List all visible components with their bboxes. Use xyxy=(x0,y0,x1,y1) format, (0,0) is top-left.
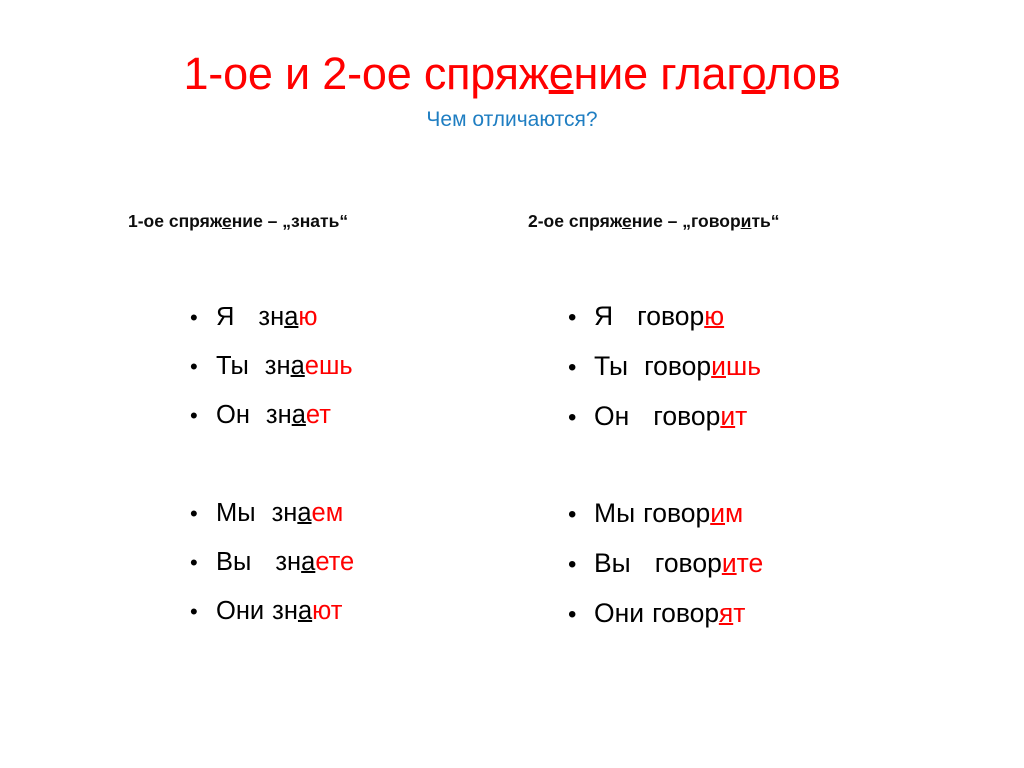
verb-stem: говор xyxy=(644,351,711,381)
list-item: •Онзнает xyxy=(190,401,354,450)
pronoun: Я xyxy=(594,301,613,332)
verb-ending: ем xyxy=(312,499,344,527)
verb-ending: ю xyxy=(298,303,317,331)
verb-form: говорит xyxy=(653,401,747,432)
pronoun: Мы xyxy=(216,499,256,528)
verb-stem: зн xyxy=(266,401,292,429)
list-spacer xyxy=(190,450,354,499)
pronoun: Ты xyxy=(216,352,249,381)
verb-form: говорим xyxy=(643,498,743,529)
page-subtitle: Чем отличаются? xyxy=(0,107,1024,133)
pronoun: Они xyxy=(594,598,644,629)
pronoun: Вы xyxy=(216,548,251,577)
bullet-icon: • xyxy=(190,601,216,623)
header-col2-text-0: 2-ое спряж xyxy=(528,211,622,231)
verb-ending: те xyxy=(737,548,764,578)
verb-stem: говор xyxy=(637,301,704,331)
list-item: •Тызнаешь xyxy=(190,352,354,401)
conjugation-line: Тыговоришь xyxy=(594,351,761,382)
marked-vowel: а xyxy=(292,401,306,429)
list-item: •Язнаю xyxy=(190,303,354,352)
verb-stem: говор xyxy=(652,598,719,628)
header-col1-text-2: ние – „знать“ xyxy=(232,211,348,231)
bullet-icon: • xyxy=(190,552,216,574)
bullet-icon: • xyxy=(190,356,216,378)
bullet-icon: • xyxy=(568,306,594,330)
verb-stem: зн xyxy=(272,499,298,527)
conjugation-line: Онговорит xyxy=(594,401,747,432)
column-header-first-conjugation: 1-ое спряжение – „знать“ xyxy=(128,210,348,232)
bullet-icon: • xyxy=(568,603,594,627)
verb-form: знают xyxy=(272,597,342,626)
conjugation-list-first: •Язнаю•Тызнаешь•Онзнает•Мызнаем•Вызнаете… xyxy=(190,303,354,646)
header-col2-stressed-letter: е xyxy=(622,211,632,231)
verb-form: знаю xyxy=(258,303,317,332)
title-text-2: ние глаг xyxy=(574,48,742,99)
verb-ending: ет xyxy=(306,401,331,429)
pronoun: Мы xyxy=(594,498,635,529)
verb-form: знаешь xyxy=(265,352,353,381)
pronoun: Он xyxy=(216,401,250,430)
conjugation-line: Тызнаешь xyxy=(216,352,353,381)
conjugation-line: Выговорите xyxy=(594,548,763,579)
title-text-4: лов xyxy=(765,48,840,99)
title-text-0: 1-ое и 2-ое спряж xyxy=(183,48,548,99)
list-item: •Тыговоришь xyxy=(568,351,763,401)
bullet-icon: • xyxy=(190,405,216,427)
list-item: •Вызнаете xyxy=(190,548,354,597)
marked-vowel: а xyxy=(291,352,305,380)
conjugation-line: Онзнает xyxy=(216,401,331,430)
verb-stem: зн xyxy=(275,548,301,576)
verb-ending: т xyxy=(735,401,747,431)
verb-ending: м xyxy=(725,498,743,528)
conjugation-line: Мыговорим xyxy=(594,498,743,529)
pronoun: Ты xyxy=(594,351,628,382)
bullet-icon: • xyxy=(568,553,594,577)
page-title: 1-ое и 2-ое спряжение глаголов xyxy=(0,48,1024,100)
verb-ending: ете xyxy=(315,548,354,576)
marked-vowel: а xyxy=(297,499,311,527)
conjugation-line: Мызнаем xyxy=(216,499,343,528)
verb-stem: зн xyxy=(258,303,284,331)
verb-stem: говор xyxy=(643,498,710,528)
verb-ending: ют xyxy=(312,597,342,625)
pronoun: Они xyxy=(216,597,264,626)
marked-vowel: и xyxy=(722,548,737,578)
list-item: •Выговорите xyxy=(568,548,763,598)
title-stressed-letter: е xyxy=(549,48,574,99)
conjugation-line: Онизнают xyxy=(216,597,342,626)
header-col2-text-4: ть“ xyxy=(751,211,779,231)
pronoun: Я xyxy=(216,303,234,332)
marked-vowel: а xyxy=(284,303,298,331)
marked-vowel: а xyxy=(301,548,315,576)
bullet-icon: • xyxy=(568,406,594,430)
title-stressed-letter: о xyxy=(742,48,766,99)
list-item: •Онизнают xyxy=(190,597,354,646)
pronoun: Он xyxy=(594,401,629,432)
header-col1-stressed-letter: е xyxy=(222,211,232,231)
verb-form: говоришь xyxy=(644,351,761,382)
conjugation-line: Ониговорят xyxy=(594,598,745,629)
slide-canvas: 1-ое и 2-ое спряжение глаголов Чем отлич… xyxy=(0,0,1024,768)
list-item: •Ониговорят xyxy=(568,598,763,648)
verb-stem: зн xyxy=(272,597,298,625)
marked-vowel: ю xyxy=(704,301,724,331)
verb-form: говорю xyxy=(637,301,724,332)
marked-vowel: и xyxy=(710,498,725,528)
bullet-icon: • xyxy=(190,503,216,525)
conjugation-line: Язнаю xyxy=(216,303,318,332)
list-item: •Онговорит xyxy=(568,401,763,451)
marked-vowel: я xyxy=(719,598,733,628)
bullet-icon: • xyxy=(568,503,594,527)
header-col2-stressed-letter: и xyxy=(741,211,752,231)
conjugation-line: Яговорю xyxy=(594,301,724,332)
bullet-icon: • xyxy=(190,307,216,329)
header-col2-text-2: ние – „говор xyxy=(632,211,741,231)
marked-vowel: а xyxy=(298,597,312,625)
verb-stem: говор xyxy=(655,548,722,578)
verb-form: знает xyxy=(266,401,331,430)
conjugation-list-second: •Яговорю•Тыговоришь•Онговорит•Мыговорим•… xyxy=(568,301,763,648)
verb-ending: т xyxy=(733,598,745,628)
marked-vowel: и xyxy=(720,401,735,431)
conjugation-line: Вызнаете xyxy=(216,548,354,577)
marked-vowel: и xyxy=(711,351,726,381)
verb-form: знаем xyxy=(272,499,344,528)
verb-ending: ешь xyxy=(305,352,353,380)
verb-form: говорите xyxy=(655,548,763,579)
verb-stem: говор xyxy=(653,401,720,431)
verb-form: говорят xyxy=(652,598,745,629)
list-item: •Яговорю xyxy=(568,301,763,351)
title-block: 1-ое и 2-ое спряжение глаголов Чем отлич… xyxy=(0,48,1024,133)
pronoun: Вы xyxy=(594,548,631,579)
verb-form: знаете xyxy=(275,548,354,577)
list-item: •Мызнаем xyxy=(190,499,354,548)
verb-stem: зн xyxy=(265,352,291,380)
bullet-icon: • xyxy=(568,356,594,380)
column-header-second-conjugation: 2-ое спряжение – „говорить“ xyxy=(528,210,780,232)
verb-ending: шь xyxy=(726,351,761,381)
list-spacer xyxy=(568,451,763,498)
list-item: •Мыговорим xyxy=(568,498,763,548)
header-col1-text-0: 1-ое спряж xyxy=(128,211,222,231)
